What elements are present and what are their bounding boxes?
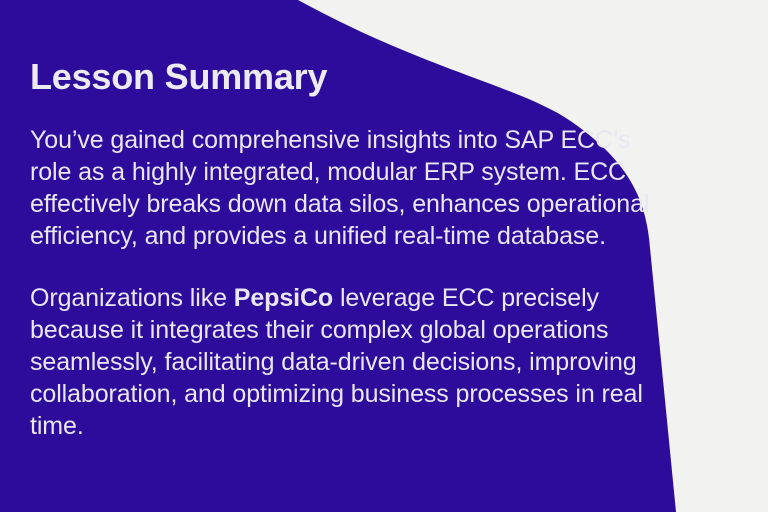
page-title: Lesson Summary <box>30 56 327 98</box>
example-paragraph-lead: Organizations like <box>30 284 234 312</box>
summary-paragraph: You’ve gained comprehensive insights int… <box>30 124 650 252</box>
brand-name-pepsico: PepsiCo <box>234 284 333 312</box>
example-paragraph: Organizations like PepsiCo leverage ECC … <box>30 282 650 442</box>
body-copy: You’ve gained comprehensive insights int… <box>30 124 650 442</box>
summary-paragraph-text: You’ve gained comprehensive insights int… <box>30 126 649 250</box>
slide-content: Lesson Summary You’ve gained comprehensi… <box>0 0 768 512</box>
lesson-summary-slide: Lesson Summary You’ve gained comprehensi… <box>0 0 768 512</box>
